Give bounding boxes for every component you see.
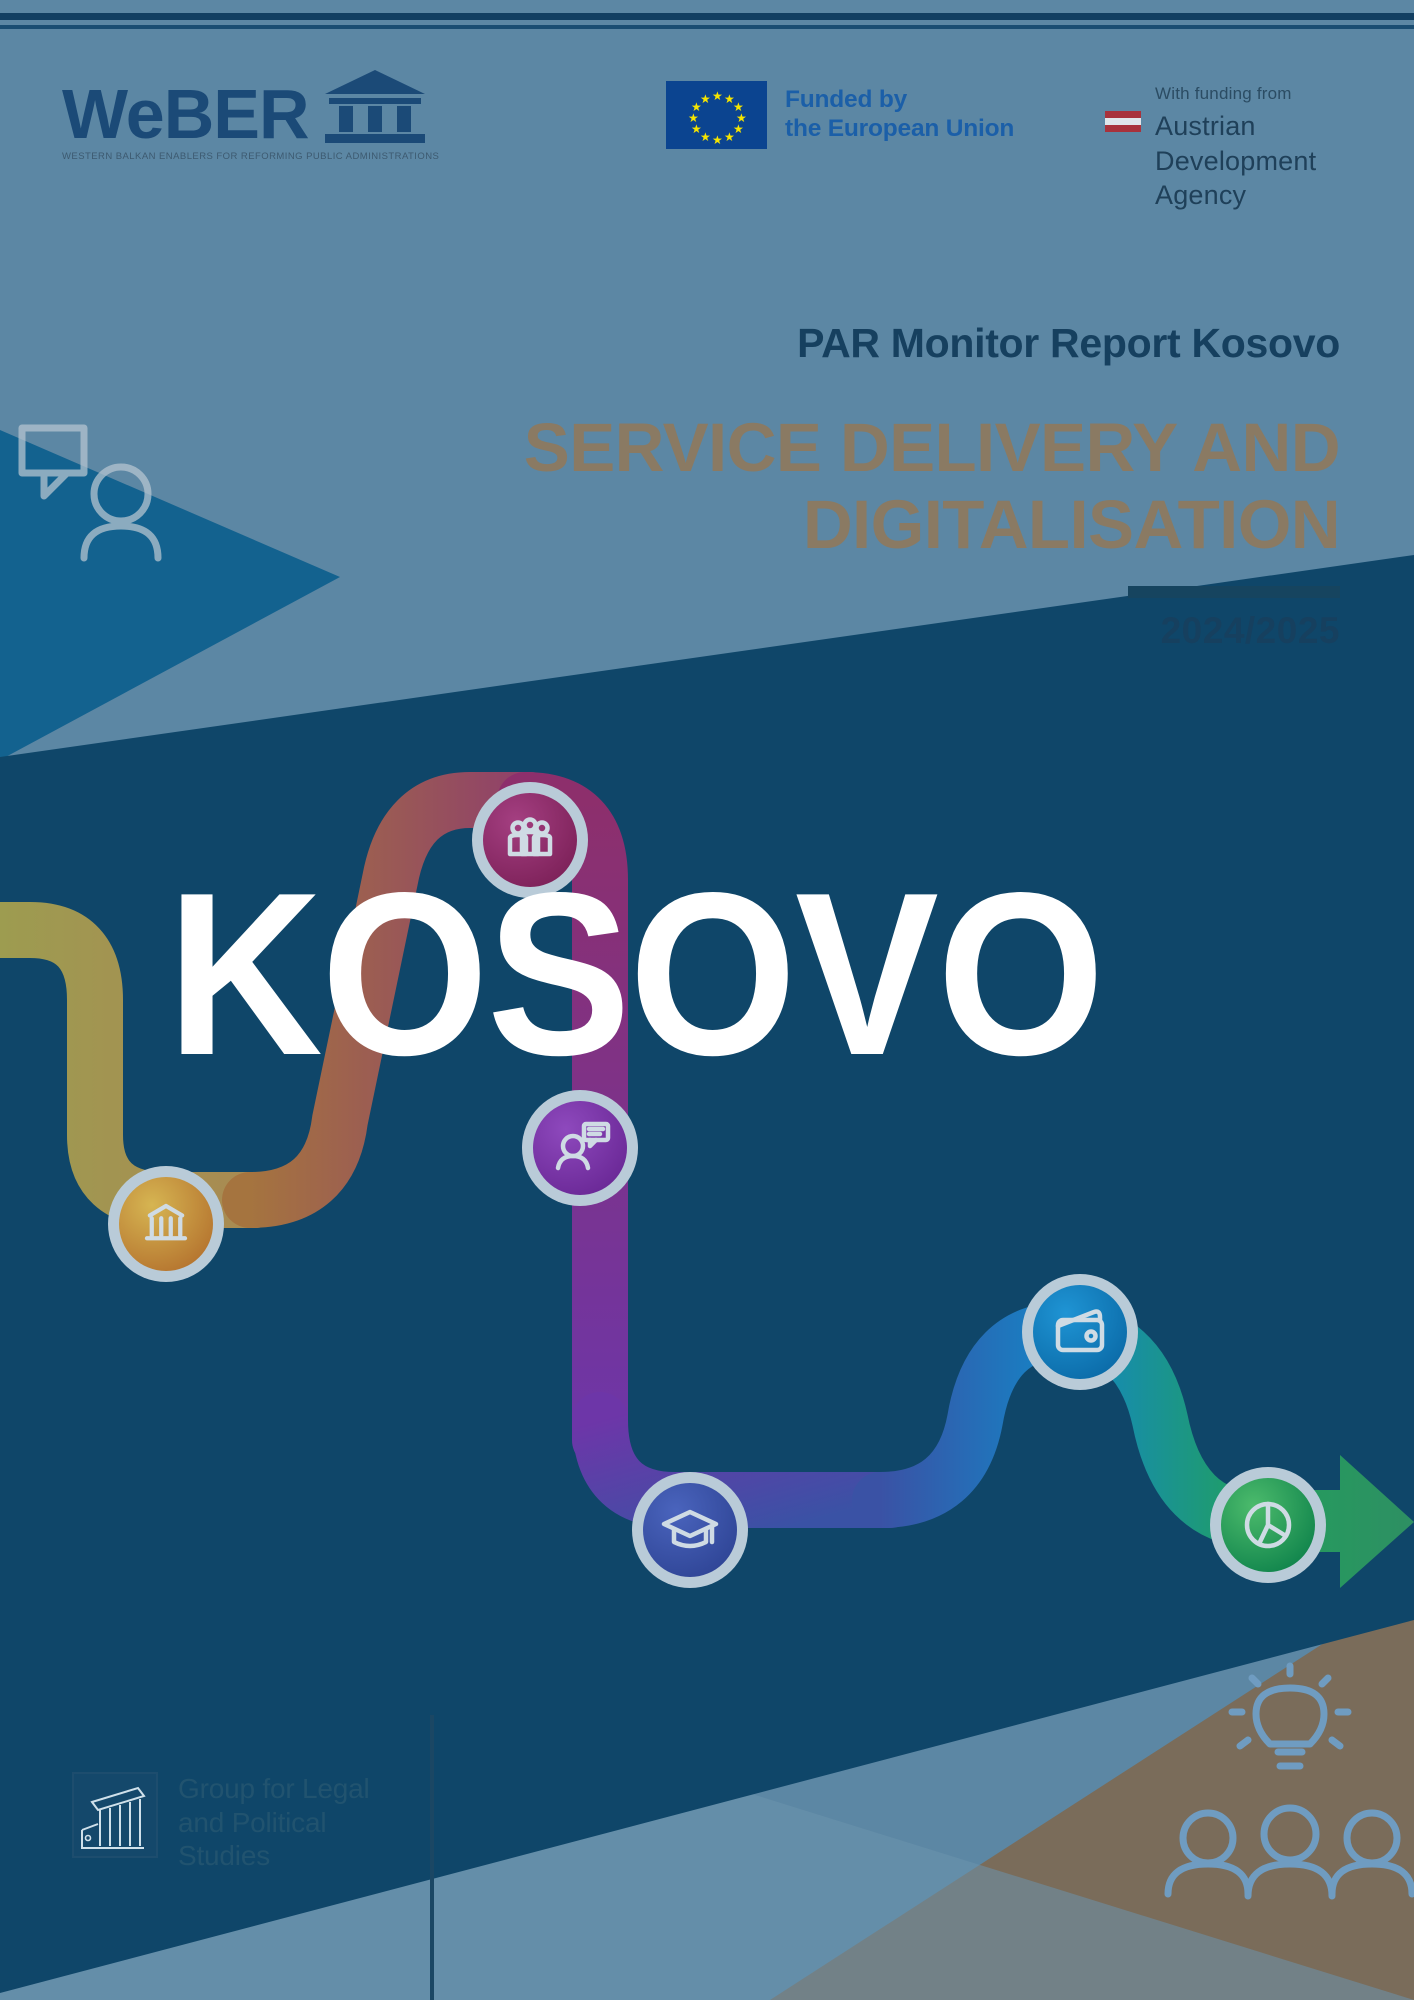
publisher-name-line-1: Group for Legal <box>178 1772 370 1806</box>
journey-node-government-building <box>108 1166 224 1282</box>
journey-node-wallet <box>1022 1274 1138 1390</box>
report-year: 2024/2025 <box>430 610 1340 652</box>
report-cover-page: WeBER WESTERN BALKAN ENABLERS FOR REFORM… <box>0 0 1414 2000</box>
page-title-line-2: DIGITALISATION <box>430 486 1340 563</box>
weber-project-logo: WeBER WESTERN BALKAN ENABLERS FOR REFORM… <box>62 68 439 162</box>
austrian-flag-icon <box>1105 111 1141 213</box>
eu-funding-line-1: Funded by <box>785 86 1014 115</box>
publisher-logo: Group for Legal and Political Studies <box>72 1772 370 1873</box>
country-name: KOSOVO <box>44 875 1225 1075</box>
weber-wordmark-text: WeBER <box>62 84 309 144</box>
report-kicker: PAR Monitor Report Kosovo <box>430 320 1340 367</box>
title-block: PAR Monitor Report Kosovo SERVICE DELIVE… <box>430 320 1340 652</box>
weber-tagline: WESTERN BALKAN ENABLERS FOR REFORMING PU… <box>62 151 439 162</box>
classical-building-icon <box>323 68 427 144</box>
journey-node-person-feedback <box>522 1090 638 1206</box>
eu-funding-logo: ★ ★ ★ ★ ★ ★ ★ ★ ★ ★ ★ ★ Funded by the Eu… <box>666 81 1014 149</box>
publisher-name-line-2: and Political <box>178 1806 370 1840</box>
top-rule-primary <box>0 13 1414 20</box>
ada-name-line-1: Austrian <box>1155 109 1316 144</box>
ada-funding-logo: With funding from Austrian Development A… <box>1105 84 1316 213</box>
page-title-line-1: SERVICE DELIVERY AND <box>430 409 1340 486</box>
ada-name-line-2: Development <box>1155 144 1316 179</box>
journey-node-education <box>632 1472 748 1588</box>
funder-logo-row: WeBER WESTERN BALKAN ENABLERS FOR REFORM… <box>0 48 1414 188</box>
eu-funding-line-2: the European Union <box>785 115 1014 144</box>
title-divider <box>1128 586 1340 598</box>
courthouse-building-icon <box>72 1772 158 1858</box>
ada-name-line-3: Agency <box>1155 178 1316 213</box>
publisher-name-line-3: Studies <box>178 1839 370 1873</box>
eu-flag-icon: ★ ★ ★ ★ ★ ★ ★ ★ ★ ★ ★ ★ <box>666 81 767 149</box>
bottom-vertical-divider <box>430 1715 434 2000</box>
top-rule-secondary <box>0 25 1414 29</box>
ada-kicker: With funding from <box>1155 84 1316 104</box>
journey-node-pie-chart <box>1210 1467 1326 1583</box>
